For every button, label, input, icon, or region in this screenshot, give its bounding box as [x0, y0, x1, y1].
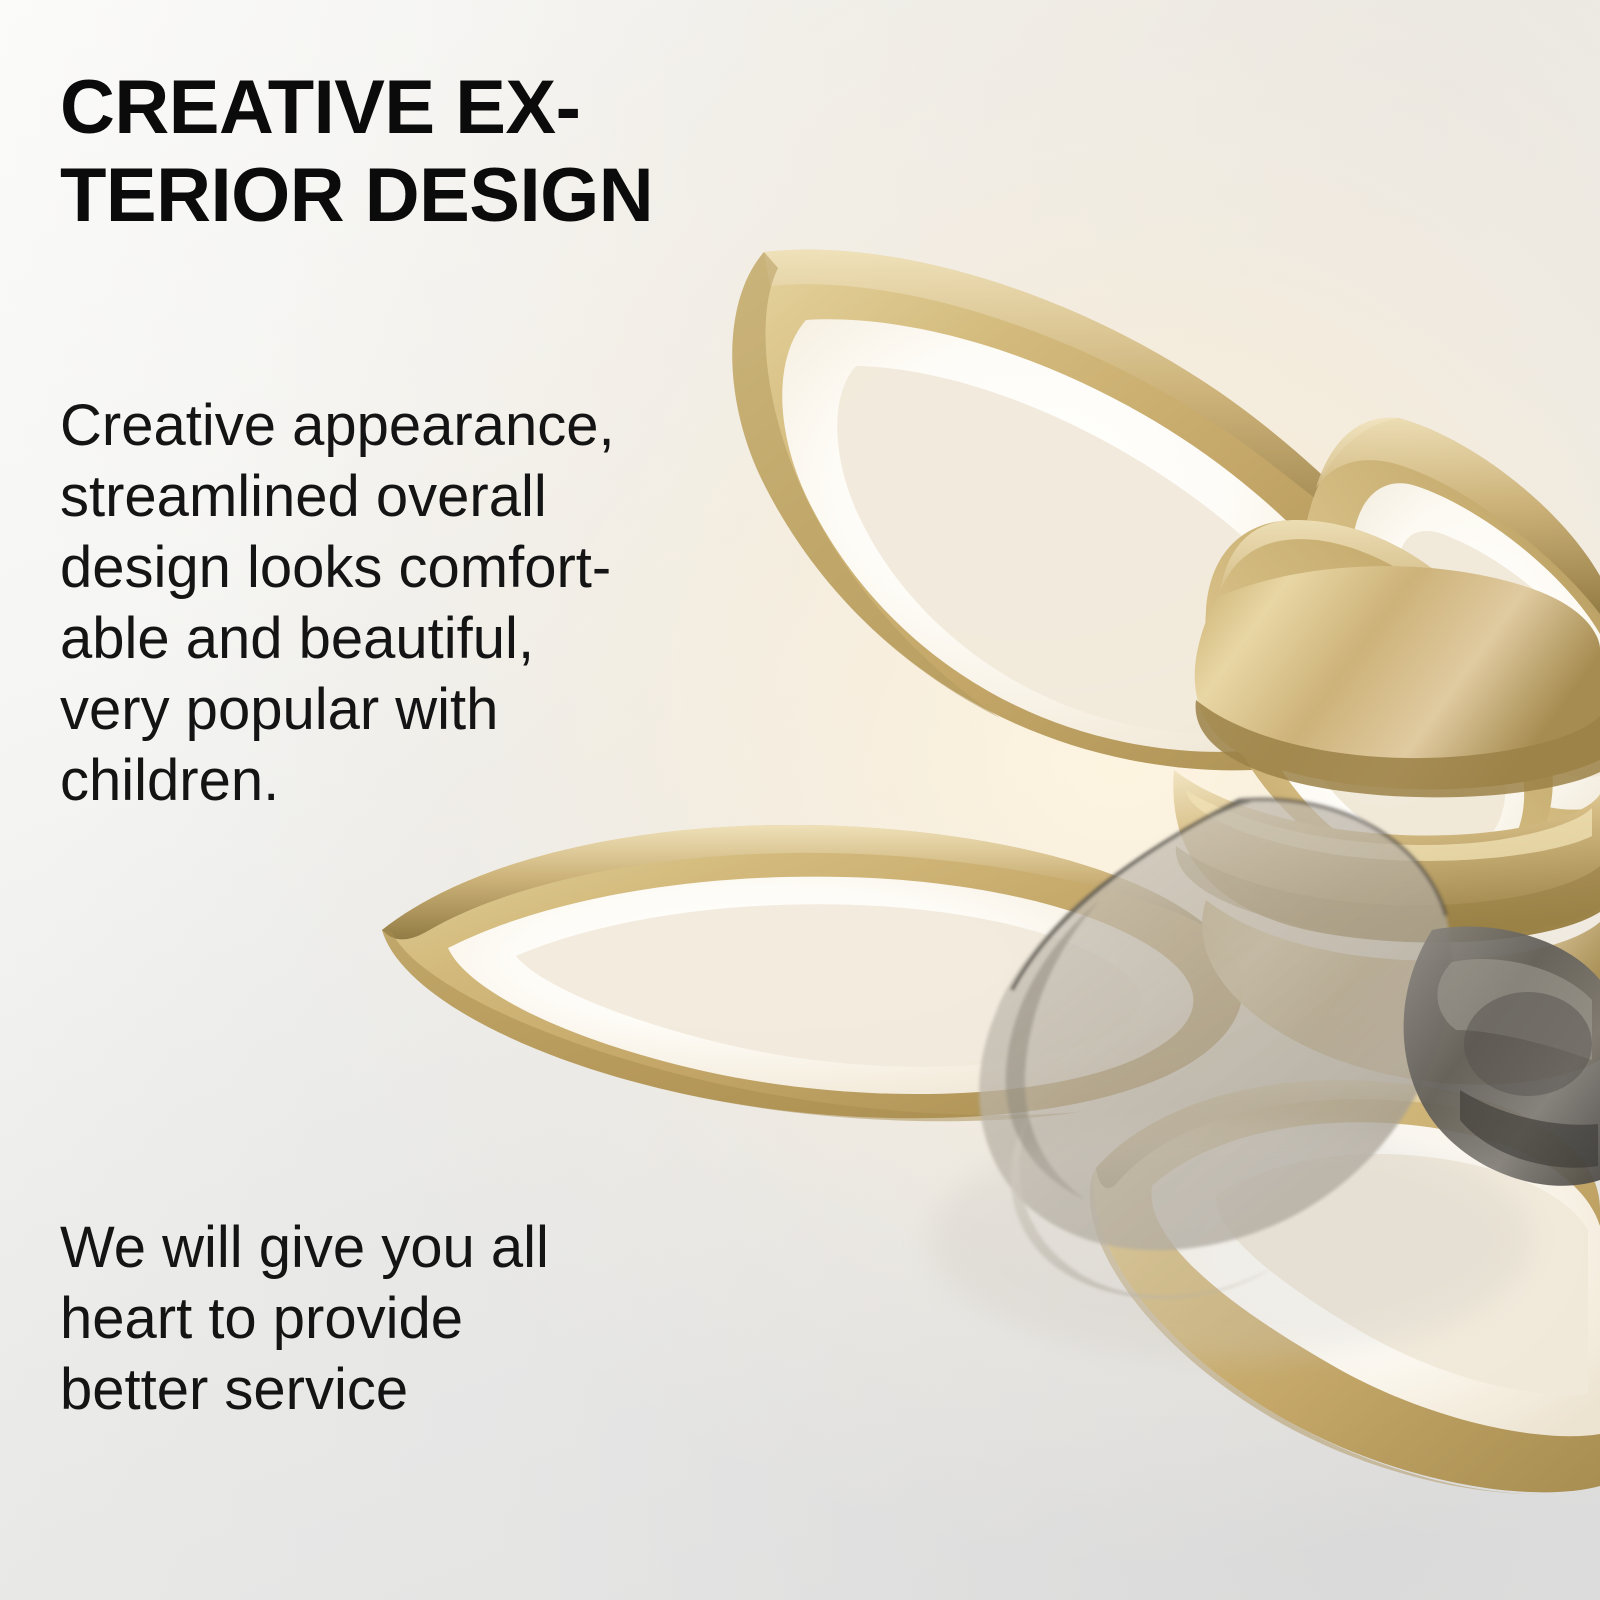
product-marketing-banner: CREATIVE EX- TERIOR DESIGN Creative appe…: [0, 0, 1600, 1600]
service-tagline: We will give you all heart to provide be…: [60, 1212, 670, 1425]
page-title: CREATIVE EX- TERIOR DESIGN: [60, 64, 700, 240]
body-paragraph: Creative appearance, streamlined overall…: [60, 390, 670, 816]
